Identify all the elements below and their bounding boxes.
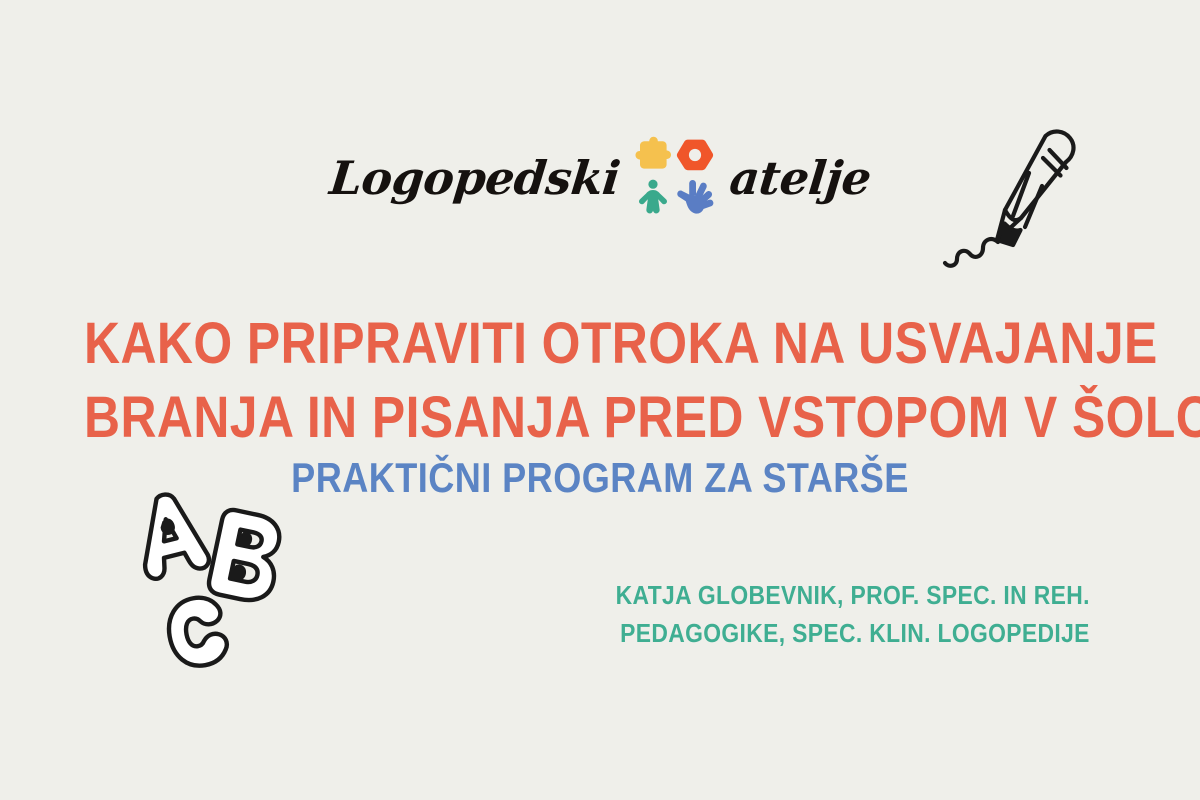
poster-canvas: Logopedski [0,0,1200,800]
hand-icon [676,178,714,216]
person-figure-icon [634,178,672,216]
puzzle-piece-icon [634,136,672,174]
headline-line-1: KAKO PRIPRAVITI OTROKA NA USVAJANJE [84,307,1116,381]
abc-letters-doodle-icon [126,488,301,673]
author-credit-line-1: KATJA GLOBEVNIK, PROF. SPEC. IN REH. [616,576,1090,614]
page-title: KAKO PRIPRAVITI OTROKA NA USVAJANJE BRAN… [0,307,1200,455]
pencil-doodle-icon [925,118,1100,283]
author-credit: KATJA GLOBEVNIK, PROF. SPEC. IN REH. PED… [551,576,1090,652]
brand-name-left: Logopedski [327,155,622,201]
headline-line-2: BRANJA IN PISANJA PRED VSTOPOM V ŠOLO? [84,381,1116,455]
brand-mark-group [634,136,714,216]
brand-name-right: atelje [727,155,873,201]
author-credit-line-2: PEDAGOGIKE, SPEC. KLIN. LOGOPEDIJE [616,614,1090,652]
hexagon-nut-icon [676,136,714,174]
